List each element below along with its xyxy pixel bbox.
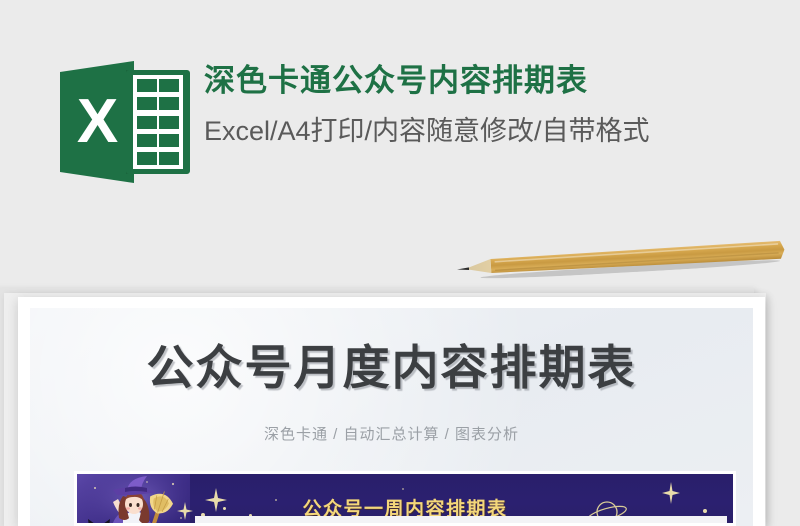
excel-icon-grid-row bbox=[137, 116, 179, 129]
excel-icon-grid-cell bbox=[137, 152, 157, 165]
star-dot bbox=[703, 509, 707, 513]
star-dot bbox=[402, 488, 404, 490]
header-text-block: 深色卡通公众号内容排期表 Excel/A4打印/内容随意修改/自带格式 bbox=[204, 58, 650, 149]
schedule-banner: 公众号一周内容排期表 bbox=[77, 474, 733, 523]
banner-inner-panel bbox=[195, 516, 727, 523]
excel-icon-grid-cell bbox=[159, 116, 179, 129]
excel-icon-grid-cell bbox=[137, 79, 157, 92]
document-title: 公众号月度内容排期表 bbox=[30, 344, 753, 391]
product-title: 深色卡通公众号内容排期表 bbox=[204, 62, 650, 101]
excel-icon-grid-cell bbox=[137, 97, 157, 110]
document-canvas: 公众号月度内容排期表 深色卡通 / 自动汇总计算 / 图表分析 bbox=[30, 308, 753, 526]
excel-icon-grid-row bbox=[137, 134, 179, 147]
excel-file-icon: X bbox=[52, 58, 192, 186]
excel-icon-letter: X bbox=[60, 61, 134, 183]
document-preview-sheet: 公众号月度内容排期表 深色卡通 / 自动汇总计算 / 图表分析 bbox=[18, 297, 765, 526]
excel-icon-grid-row bbox=[137, 152, 179, 165]
excel-icon-grid-row bbox=[137, 97, 179, 110]
star-dot bbox=[223, 507, 226, 510]
excel-icon-grid-cell bbox=[137, 116, 157, 129]
excel-icon-grid-cell bbox=[159, 152, 179, 165]
product-subtitle: Excel/A4打印/内容随意修改/自带格式 bbox=[204, 115, 650, 149]
header-row: X bbox=[52, 58, 650, 186]
excel-icon-grid-row bbox=[137, 79, 179, 92]
schedule-banner-frame: 公众号一周内容排期表 bbox=[74, 471, 736, 526]
star-dot bbox=[275, 499, 277, 501]
excel-icon-grid-cell bbox=[159, 134, 179, 147]
sparkle-star-icon bbox=[662, 482, 680, 504]
document-subtitle: 深色卡通 / 自动汇总计算 / 图表分析 bbox=[30, 423, 753, 444]
excel-icon-sheet bbox=[126, 70, 190, 174]
excel-icon-grid-cell bbox=[137, 134, 157, 147]
excel-icon-grid-cell bbox=[159, 79, 179, 92]
sparkle-star-icon bbox=[177, 502, 193, 520]
excel-icon-grid-cell bbox=[159, 97, 179, 110]
excel-icon-grid bbox=[133, 75, 183, 169]
header-band: X bbox=[0, 0, 800, 250]
